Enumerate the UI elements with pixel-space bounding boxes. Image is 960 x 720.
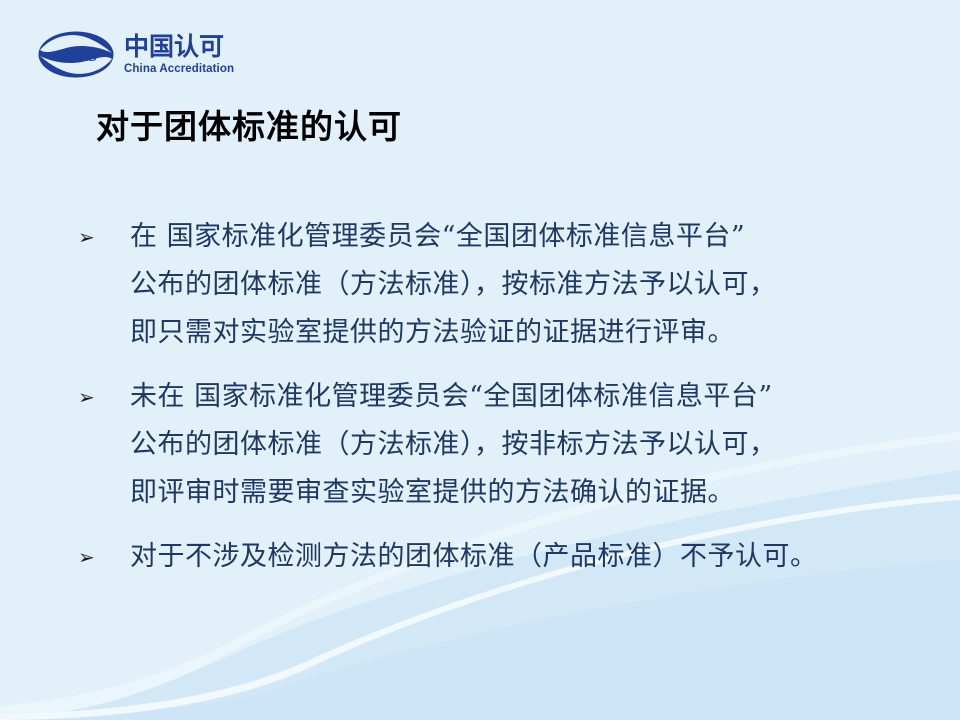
list-item: ➢对于不涉及检测方法的团体标准（产品标准）不予认可。 xyxy=(76,533,956,581)
cnas-emblem-icon: CNAS xyxy=(38,31,114,78)
list-item-line: 对于不涉及检测方法的团体标准（产品标准）不予认可。 xyxy=(130,533,956,581)
page-title: 对于团体标准的认可 xyxy=(96,106,402,148)
list-item-line: 公布的团体标准（方法标准），按标准方法予以认可， xyxy=(130,261,956,309)
list-item-line: 即评审时需要审查实验室提供的方法确认的证据。 xyxy=(130,469,956,517)
logo-name-en: China Accreditation xyxy=(124,62,234,76)
slide-canvas: CNAS 中国认可 China Accreditation 对于团体标准的认可 … xyxy=(0,0,960,720)
logo-name-cn: 中国认可 xyxy=(124,34,234,61)
bullet-list: ➢在 国家标准化管理委员会“全国团体标准信息平台”公布的团体标准（方法标准），按… xyxy=(76,213,956,597)
list-item-text: 在 国家标准化管理委员会“全国团体标准信息平台”公布的团体标准（方法标准），按标… xyxy=(130,213,956,357)
list-item-line: 在 国家标准化管理委员会“全国团体标准信息平台” xyxy=(130,213,956,261)
list-item-text: 未在 国家标准化管理委员会“全国团体标准信息平台”公布的团体标准（方法标准），按… xyxy=(130,373,956,517)
list-item: ➢在 国家标准化管理委员会“全国团体标准信息平台”公布的团体标准（方法标准），按… xyxy=(76,213,956,357)
list-item-line: 公布的团体标准（方法标准），按非标方法予以认可， xyxy=(130,421,956,469)
bullet-arrow-icon: ➢ xyxy=(76,373,130,421)
logo-cnas-text: CNAS xyxy=(54,46,97,65)
list-item: ➢未在 国家标准化管理委员会“全国团体标准信息平台”公布的团体标准（方法标准），… xyxy=(76,373,956,517)
list-item-text: 对于不涉及检测方法的团体标准（产品标准）不予认可。 xyxy=(130,533,956,581)
logo-wordmark: 中国认可 China Accreditation xyxy=(124,34,234,76)
bullet-arrow-icon: ➢ xyxy=(76,213,130,261)
list-item-line: 未在 国家标准化管理委员会“全国团体标准信息平台” xyxy=(130,373,956,421)
bullet-arrow-icon: ➢ xyxy=(76,533,130,581)
list-item-line: 即只需对实验室提供的方法验证的证据进行评审。 xyxy=(130,309,956,357)
cnas-logo: CNAS 中国认可 China Accreditation xyxy=(38,31,234,78)
